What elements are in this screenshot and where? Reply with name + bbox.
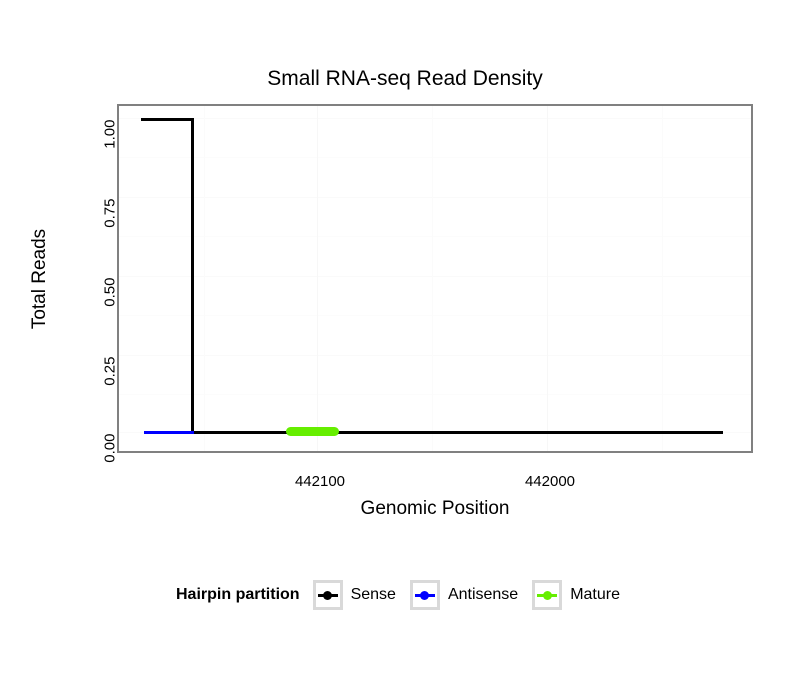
legend-point-glyph xyxy=(323,591,332,600)
legend-title: Hairpin partition xyxy=(176,586,300,604)
legend-item-antisense[interactable]: Antisense xyxy=(410,580,526,610)
y-tick-label: 1.00 xyxy=(102,120,119,149)
legend-key-sense-icon xyxy=(313,580,343,610)
legend-label-mature: Mature xyxy=(570,586,620,604)
y-tick-label: 0.00 xyxy=(102,434,119,463)
y-tick-label: 0.50 xyxy=(102,278,119,307)
mature-segment xyxy=(286,427,339,436)
x-axis-title: Genomic Position xyxy=(117,498,753,520)
legend-item-sense[interactable]: Sense xyxy=(313,580,404,610)
legend-label-sense: Sense xyxy=(351,586,396,604)
plot-area xyxy=(119,106,751,451)
y-axis-title-text: Total Reads xyxy=(29,228,51,328)
x-tick-label: 442000 xyxy=(495,473,605,490)
x-tick-label: 442100 xyxy=(265,473,375,490)
legend-label-antisense: Antisense xyxy=(448,586,518,604)
chart-figure: Small RNA-seq Read Density Total Reads 1… xyxy=(0,0,810,690)
chart-title: Small RNA-seq Read Density xyxy=(0,66,810,92)
legend-point-glyph xyxy=(543,591,552,600)
series-mature xyxy=(119,106,751,451)
y-axis-title: Total Reads xyxy=(28,104,52,453)
legend-point-glyph xyxy=(420,591,429,600)
y-tick-label: 0.75 xyxy=(102,199,119,228)
legend-item-mature[interactable]: Mature xyxy=(532,580,628,610)
legend-key-antisense-icon xyxy=(410,580,440,610)
y-tick-label: 0.25 xyxy=(102,357,119,386)
plot-panel xyxy=(117,104,753,453)
chart-legend: Hairpin partition Sense Antisense Mature xyxy=(0,580,810,610)
legend-key-mature-icon xyxy=(532,580,562,610)
